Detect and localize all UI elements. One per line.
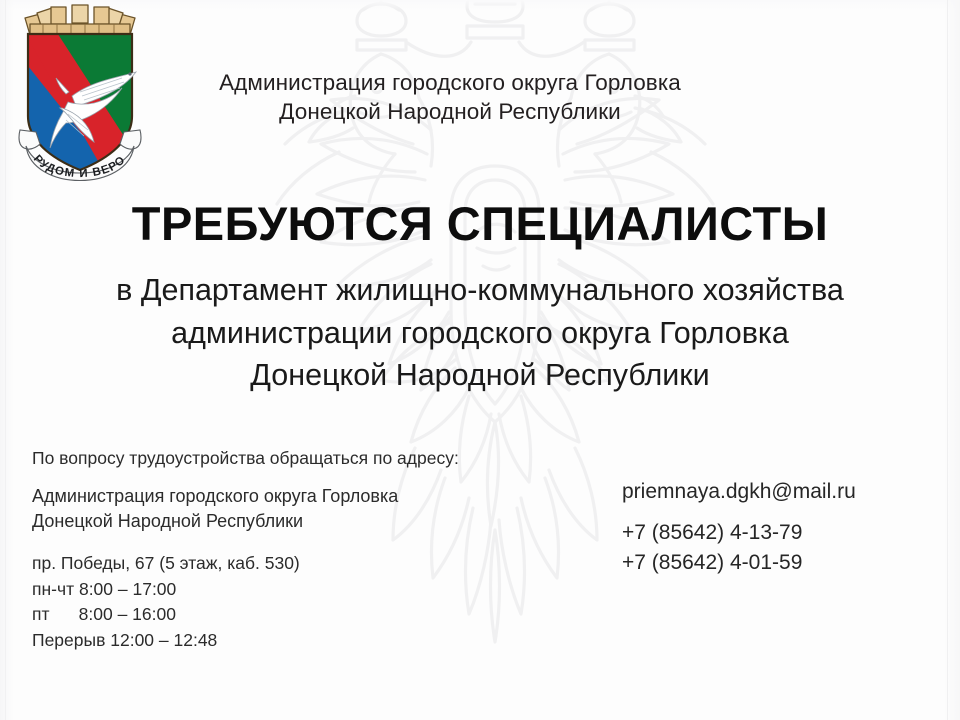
header-line-1: Администрация городского округа Горловка <box>150 68 750 97</box>
contact-address-block: По вопросу трудоустройства обращаться по… <box>32 446 552 653</box>
hours-monday-thursday: пн-чт 8:00 – 17:00 <box>32 577 552 603</box>
contact-schedule: пр. Победы, 67 (5 этаж, каб. 530) пн-чт … <box>32 551 552 653</box>
phone-number-1[interactable]: +7 (85642) 4-13-79 <box>622 518 942 548</box>
contact-street-address: пр. Победы, 67 (5 этаж, каб. 530) <box>32 551 552 577</box>
email-address[interactable]: priemnaya.dgkh@mail.ru <box>622 477 942 506</box>
contact-organization: Администрация городского округа Горловка… <box>32 484 552 534</box>
contact-lead-text: По вопросу трудоустройства обращаться по… <box>32 446 552 470</box>
header-block: Администрация городского округа Горловка… <box>150 68 750 126</box>
page-title: ТРЕБУЮТСЯ СПЕЦИАЛИСТЫ <box>0 198 960 250</box>
contact-org-line-1: Администрация городского округа Горловка <box>32 484 552 509</box>
lunch-break: Перерыв 12:00 – 12:48 <box>32 628 552 654</box>
phone-number-2[interactable]: +7 (85642) 4-01-59 <box>622 548 942 578</box>
header-line-2: Донецкой Народной Республики <box>150 97 750 126</box>
job-announcement-poster: ТРУДОМ И ВЕРОЙ Администрация городского … <box>0 0 960 720</box>
contact-details-block: priemnaya.dgkh@mail.ru +7 (85642) 4-13-7… <box>622 477 942 577</box>
contact-org-line-2: Донецкой Народной Республики <box>32 509 552 534</box>
subtitle-line-3: Донецкой Народной Республики <box>0 354 960 397</box>
subtitle-block: в Департамент жилищно-коммунального хозя… <box>0 269 960 397</box>
coat-of-arms-icon: ТРУДОМ И ВЕРОЙ <box>10 4 150 194</box>
subtitle-line-2: администрации городского округа Горловка <box>0 312 960 355</box>
hours-friday: пт 8:00 – 16:00 <box>32 602 552 628</box>
subtitle-line-1: в Департамент жилищно-коммунального хозя… <box>0 269 960 312</box>
